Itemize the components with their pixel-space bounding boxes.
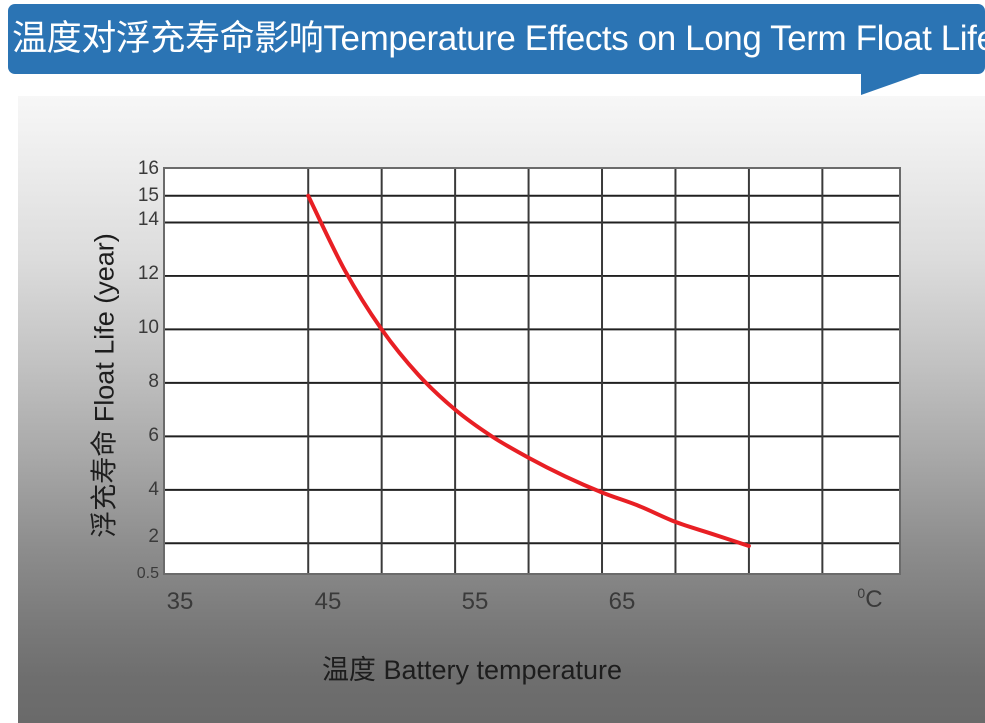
x-tick-label: 65: [582, 590, 662, 614]
celsius-letter: C: [865, 586, 882, 613]
page-title: 温度对浮充寿命影响Temperature Effects on Long Ter…: [12, 4, 985, 74]
header-banner: 温度对浮充寿命影响Temperature Effects on Long Ter…: [8, 4, 985, 74]
x-tick-label: 55: [435, 590, 515, 614]
x-axis-unit-label: 0C: [830, 588, 910, 612]
x-tick-label: 45: [288, 590, 368, 614]
speech-bubble-tail-icon: [861, 73, 923, 95]
x-axis-title: 温度 Battery temperature: [18, 648, 926, 687]
x-axis-tick-labels: 35 45 55 65 0C: [18, 96, 985, 723]
chart-figure: 浮充寿命 Float Life (year) 16 15 14 12 10 8 …: [18, 96, 985, 723]
x-tick-label: 35: [140, 590, 220, 614]
